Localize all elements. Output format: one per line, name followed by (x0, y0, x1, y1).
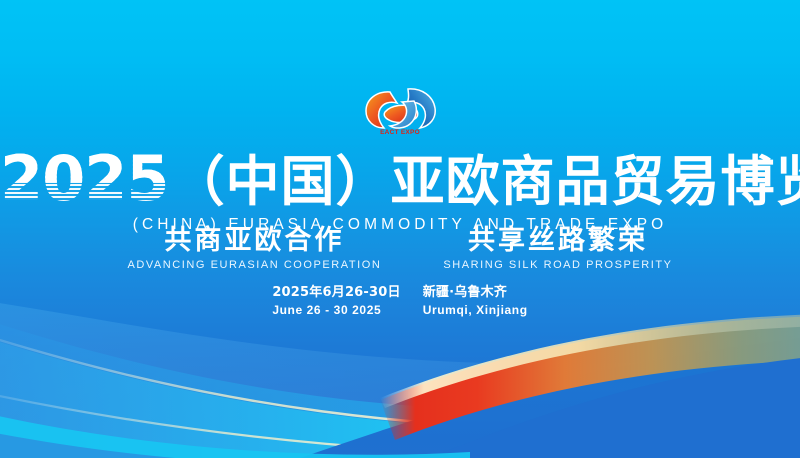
wave-cyan-soft (0, 318, 800, 458)
event-venue-english: Urumqi, Xinjiang (423, 302, 528, 318)
title-block: 2025 （中国）亚欧商品贸易博览会 (CHINA) EURASIA COMMO… (0, 148, 800, 234)
logo-container: EACT EXPO (0, 86, 800, 136)
slogan-right-english: SHARING SILK ROAD PROSPERITY (443, 259, 672, 271)
wave-highlight-lower (0, 392, 800, 457)
wave-highlight-upper (0, 334, 800, 429)
wave-ribbon-orange (380, 316, 800, 440)
event-venue-chinese: 新疆·乌鲁木齐 (423, 284, 528, 302)
slogan-right: 共享丝路繁荣 SHARING SILK ROAD PROSPERITY (443, 227, 672, 271)
wave-cyan-band (0, 336, 800, 458)
event-date-chinese: 2025年6月26-30日 (272, 284, 400, 302)
event-date: 2025年6月26-30日 June 26 - 30 2025 (272, 284, 400, 318)
event-date-english: June 26 - 30 2025 (272, 302, 400, 318)
eact-expo-logo-icon: EACT EXPO (362, 86, 438, 136)
slogan-right-chinese: 共享丝路繁荣 (443, 227, 672, 255)
slogan-row: 共商亚欧合作 ADVANCING EURASIAN COOPERATION 共享… (0, 227, 800, 271)
slogan-left-english: ADVANCING EURASIAN COOPERATION (127, 259, 381, 271)
logo-wordmark: EACT EXPO (380, 129, 420, 136)
wave-cyan-tail (0, 412, 470, 458)
event-meta: 2025年6月26-30日 June 26 - 30 2025 新疆·乌鲁木齐 … (0, 284, 800, 318)
event-venue: 新疆·乌鲁木齐 Urumqi, Xinjiang (423, 284, 528, 318)
title-year: 2025 (0, 148, 169, 210)
title-chinese: （中国）亚欧商品贸易博览会 (171, 155, 800, 209)
wave-blue-tail (0, 430, 470, 458)
wave-foreground-blue (300, 336, 800, 458)
wave-foreground-blue-2 (430, 356, 800, 458)
slogan-left-chinese: 共商亚欧合作 (127, 227, 381, 255)
slogan-left: 共商亚欧合作 ADVANCING EURASIAN COOPERATION (127, 227, 381, 271)
expo-banner: EACT EXPO 2025 （中国）亚欧商品贸易博览会 (CHINA) EUR… (0, 0, 800, 458)
wave-ribbon-highlight (380, 314, 800, 408)
main-title: 2025 （中国）亚欧商品贸易博览会 (0, 148, 800, 210)
wave-ghost (0, 300, 800, 458)
